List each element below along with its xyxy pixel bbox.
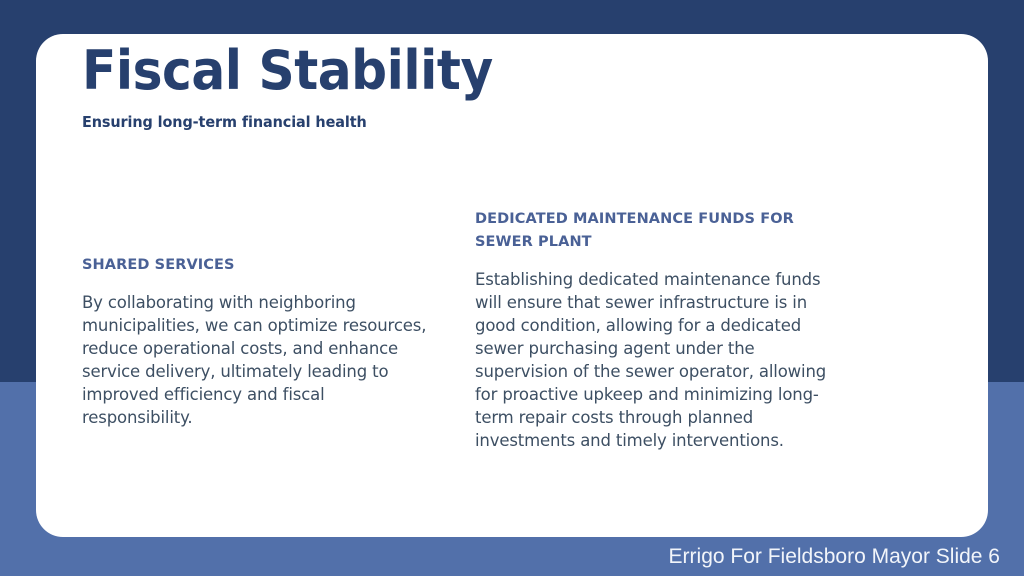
column-heading-shared-services: SHARED SERVICES bbox=[82, 254, 439, 277]
slide-subtitle: Ensuring long-term financial health bbox=[82, 112, 754, 132]
column-shared-services: SHARED SERVICES By collaborating with ne… bbox=[82, 208, 475, 429]
column-body-shared-services: By collaborating with neighboring munici… bbox=[82, 291, 439, 429]
presentation-slide: Fiscal Stability Ensuring long-term fina… bbox=[0, 0, 1024, 576]
footer-attribution-text: Errigo For Fieldsboro Mayor Slide 6 bbox=[669, 545, 1000, 569]
content-columns: SHARED SERVICES By collaborating with ne… bbox=[82, 208, 872, 452]
column-body-dedicated-maintenance-funds: Establishing dedicated maintenance funds… bbox=[475, 268, 844, 452]
column-dedicated-maintenance-funds: DEDICATED MAINTENANCE FUNDS FOR SEWER PL… bbox=[475, 208, 872, 452]
title-block: Fiscal Stability Ensuring long-term fina… bbox=[82, 42, 782, 132]
slide-title: Fiscal Stability bbox=[82, 42, 733, 100]
column-heading-dedicated-maintenance-funds: DEDICATED MAINTENANCE FUNDS FOR SEWER PL… bbox=[475, 208, 844, 254]
slide-footer: Errigo For Fieldsboro Mayor Slide 6 bbox=[0, 537, 1024, 576]
